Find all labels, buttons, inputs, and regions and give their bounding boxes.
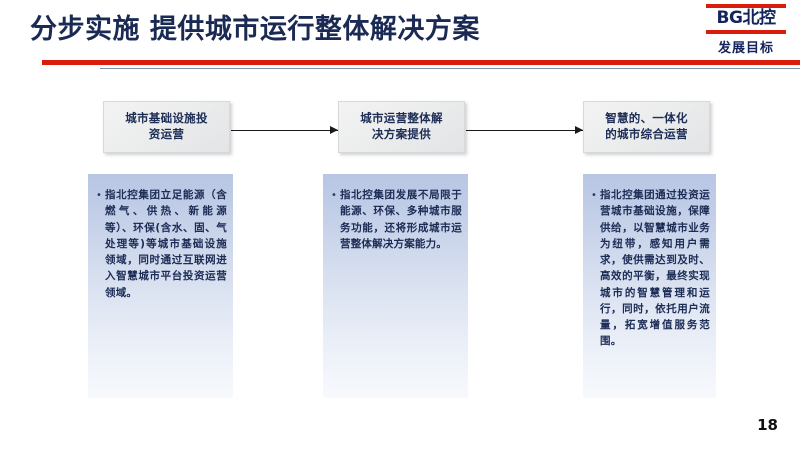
description-text-2: 指北控集团发展不局限于能源、环保、多种城市服务功能，还将形成城市运营整体解决方案… xyxy=(340,187,462,252)
page-number: 18 xyxy=(757,416,778,434)
arrow-head xyxy=(330,126,338,134)
company-logo: BG北控 发展目标 xyxy=(700,4,792,56)
title-red-rule xyxy=(42,60,800,65)
arrow-right-icon xyxy=(231,126,338,135)
bullet-point-icon: • xyxy=(591,187,600,204)
bullet-item: • 指北控集团立足能源（含燃气、供热、新能源等）、环保(含水、固、气处理等)等城… xyxy=(96,187,227,301)
page-title: 分步实施 提供城市运行整体解决方案 xyxy=(30,14,480,45)
flow-stage-label-3: 智慧的、一体化的城市综合运营 xyxy=(601,111,693,142)
arrow-right-icon xyxy=(466,126,583,135)
presentation-slide: 分步实施 提供城市运行整体解决方案 BG北控 发展目标 城市基础设施投资运营 城… xyxy=(0,0,800,450)
bullet-point-icon: • xyxy=(96,187,105,204)
bullet-point-icon: • xyxy=(331,187,340,204)
title-blue-rule xyxy=(100,68,800,69)
flow-stage-box-3: 智慧的、一体化的城市综合运营 xyxy=(583,101,710,153)
flow-stage-label-2: 城市运营整体解决方案提供 xyxy=(356,111,448,142)
logo-bottom-bar xyxy=(706,30,786,34)
bullet-item: • 指北控集团发展不局限于能源、环保、多种城市服务功能，还将形成城市运营整体解决… xyxy=(331,187,462,252)
description-panel-2: • 指北控集团发展不局限于能源、环保、多种城市服务功能，还将形成城市运营整体解决… xyxy=(323,174,468,398)
arrow-head xyxy=(575,126,583,134)
arrow-line xyxy=(231,130,338,131)
logo-sub-text: 发展目标 xyxy=(700,37,792,56)
flow-stage-label-1: 城市基础设施投资运营 xyxy=(121,111,213,142)
description-text-1: 指北控集团立足能源（含燃气、供热、新能源等）、环保(含水、固、气处理等)等城市基… xyxy=(105,187,227,301)
description-panel-3: • 指北控集团通过投资运营城市基础设施，保障供给，以智慧城市业务为纽带，感知用户… xyxy=(583,174,716,398)
logo-main-text: BG北控 xyxy=(700,9,792,29)
flow-stage-box-2: 城市运营整体解决方案提供 xyxy=(338,101,465,153)
arrow-line xyxy=(466,130,583,131)
description-panel-1: • 指北控集团立足能源（含燃气、供热、新能源等）、环保(含水、固、气处理等)等城… xyxy=(88,174,233,398)
bullet-item: • 指北控集团通过投资运营城市基础设施，保障供给，以智慧城市业务为纽带，感知用户… xyxy=(591,187,710,350)
description-text-3: 指北控集团通过投资运营城市基础设施，保障供给，以智慧城市业务为纽带，感知用户需求… xyxy=(600,187,710,350)
flow-stage-box-1: 城市基础设施投资运营 xyxy=(103,101,230,153)
